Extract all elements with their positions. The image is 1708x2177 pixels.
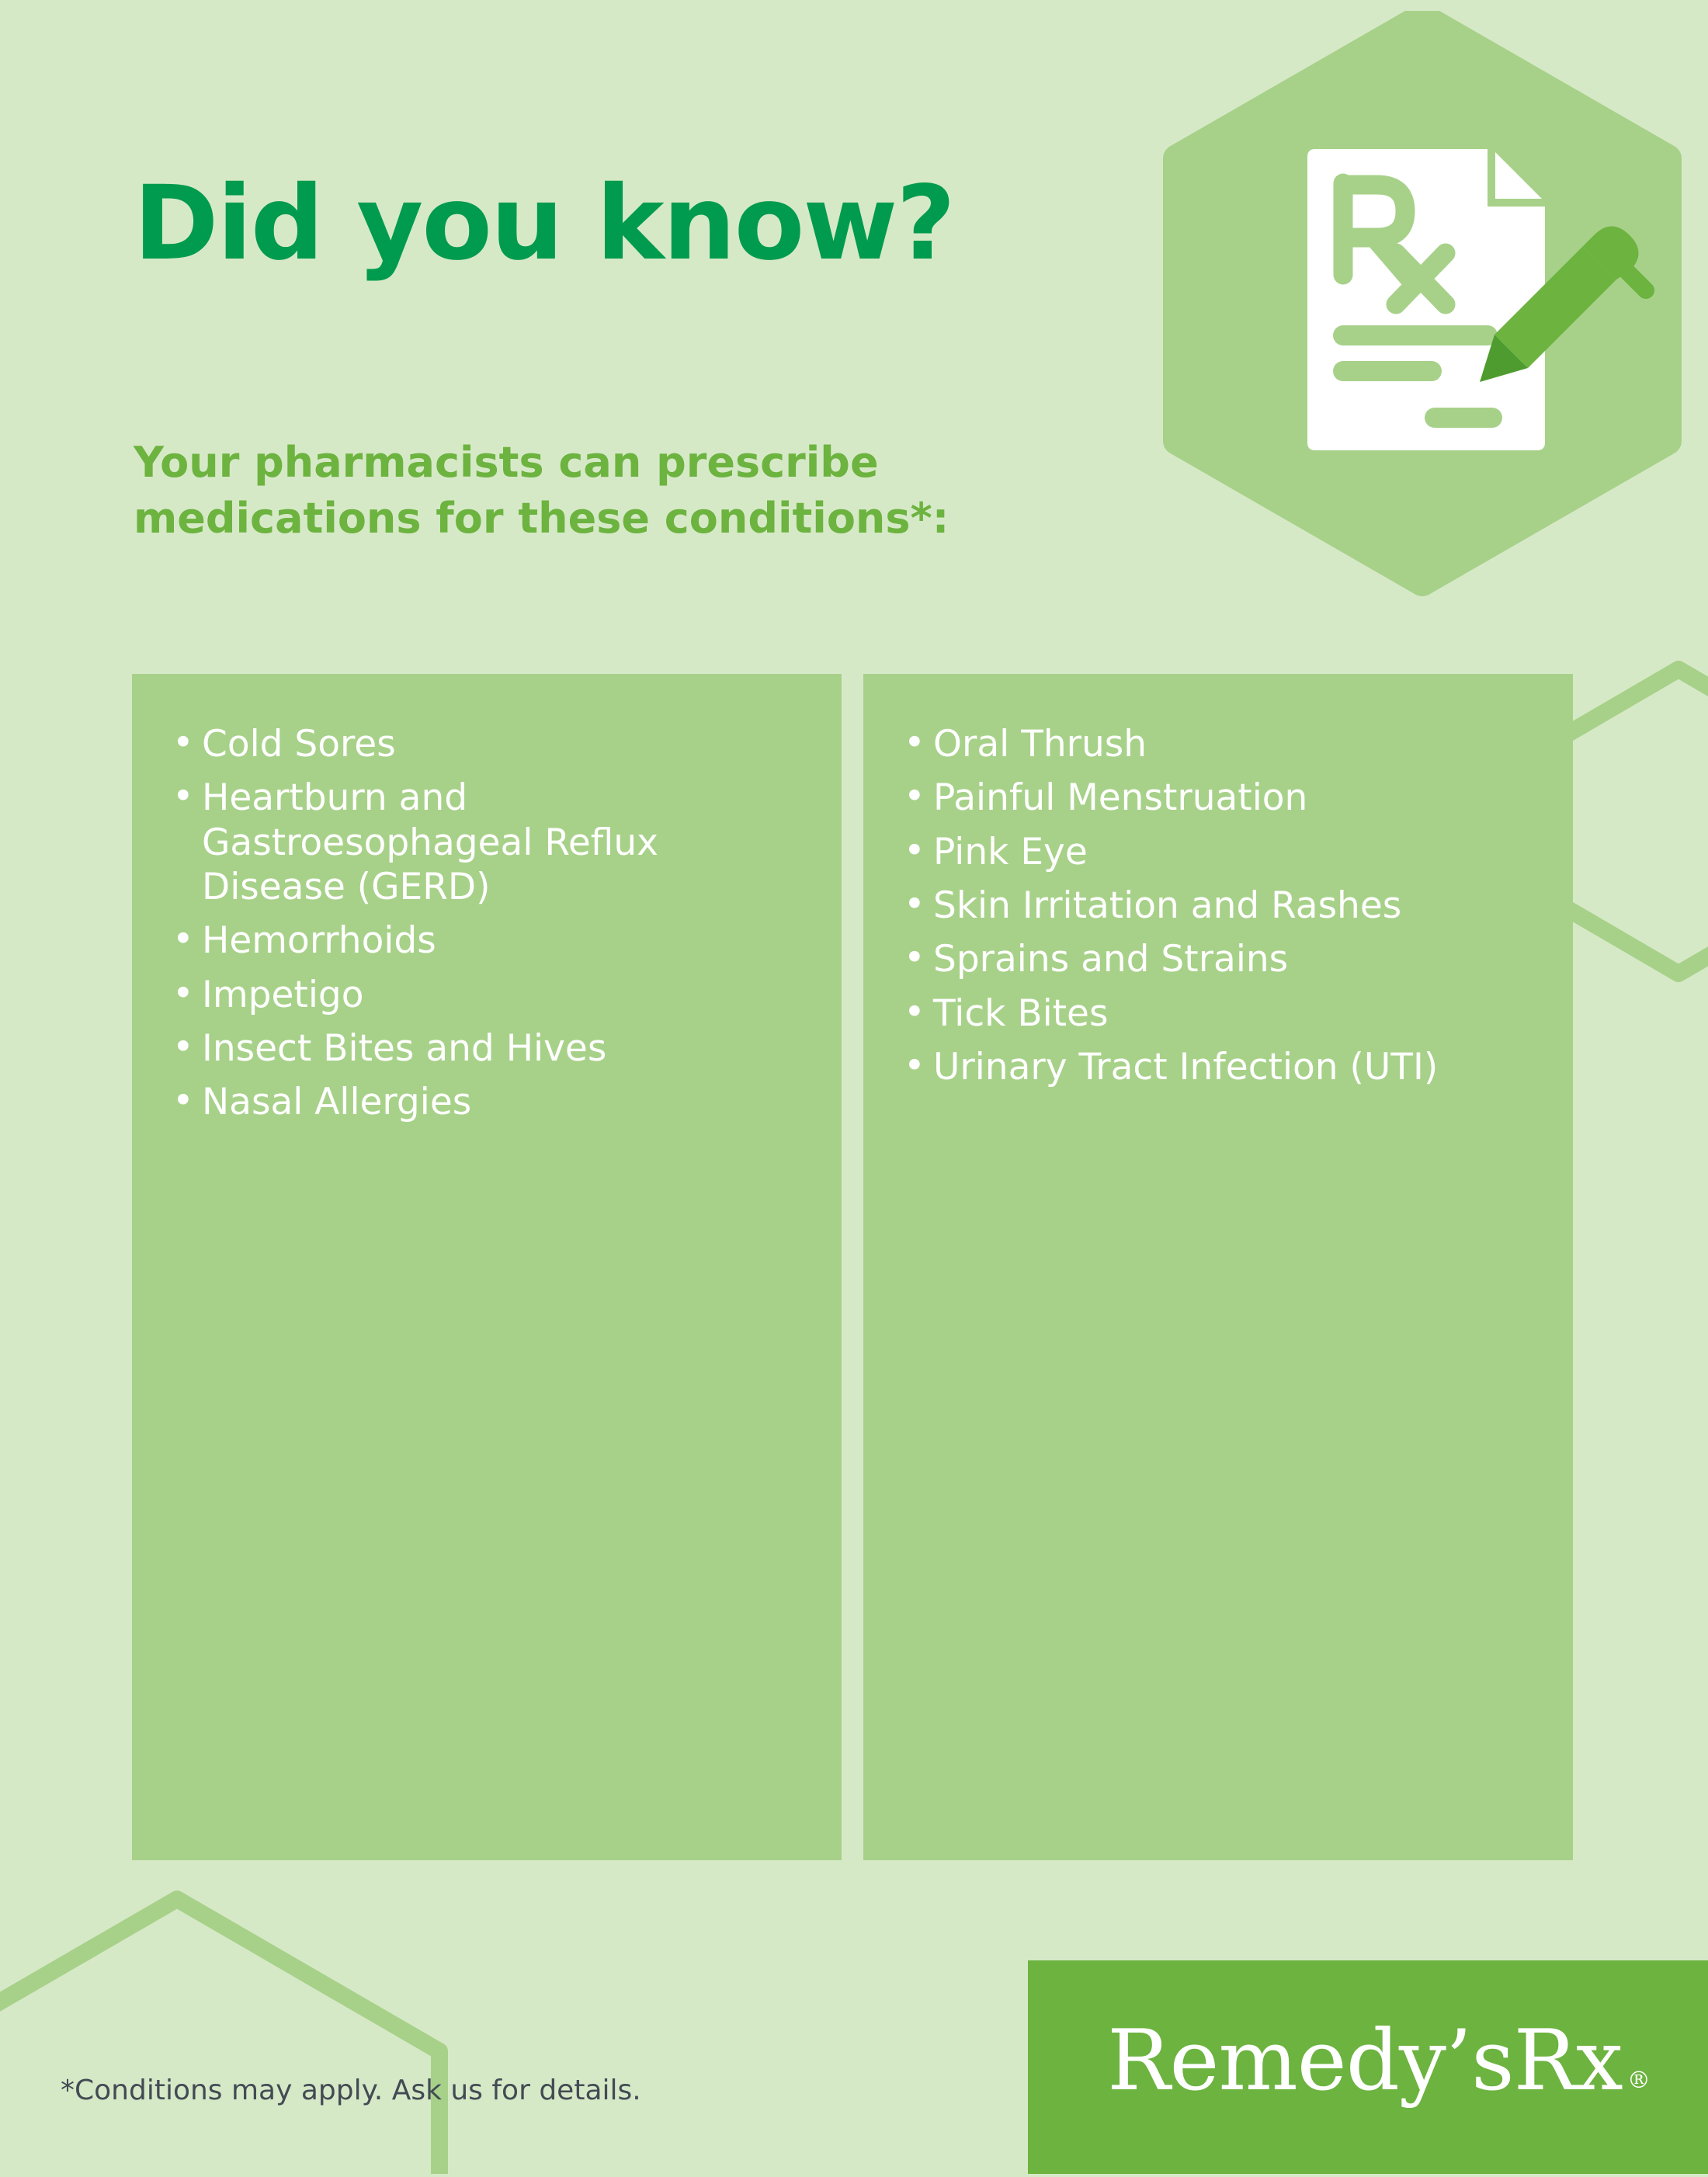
conditions-panel: Cold Sores Heartburn and Gastroesophagea… bbox=[132, 674, 1573, 1860]
conditions-list-right: Oral Thrush Painful Menstruation Pink Ey… bbox=[897, 722, 1539, 1089]
brand-logo-band: Remedy’sRx ® bbox=[1028, 1960, 1708, 2174]
list-item: Tick Bites bbox=[897, 991, 1539, 1036]
page-subtitle: Your pharmacists can prescribe medicatio… bbox=[134, 435, 1050, 547]
list-item: Nasal Allergies bbox=[166, 1080, 807, 1124]
list-item: Painful Menstruation bbox=[897, 776, 1539, 820]
conditions-list-left: Cold Sores Heartburn and Gastroesophagea… bbox=[166, 722, 807, 1125]
list-item: Urinary Tract Infection (UTI) bbox=[897, 1045, 1539, 1089]
list-item: Oral Thrush bbox=[897, 722, 1539, 766]
list-item: Pink Eye bbox=[897, 830, 1539, 874]
list-item: Sprains and Strains bbox=[897, 937, 1539, 981]
registered-trademark-icon: ® bbox=[1627, 2067, 1651, 2094]
conditions-card-left: Cold Sores Heartburn and Gastroesophagea… bbox=[132, 674, 842, 1860]
conditions-card-right: Oral Thrush Painful Menstruation Pink Ey… bbox=[863, 674, 1573, 1860]
list-item: Hemorrhoids bbox=[166, 918, 807, 963]
list-item: Impetigo bbox=[166, 973, 807, 1017]
list-item: Insect Bites and Hives bbox=[166, 1026, 807, 1071]
list-item: Cold Sores bbox=[166, 722, 807, 766]
list-item: Heartburn and Gastroesophageal Reflux Di… bbox=[166, 776, 807, 909]
logo-wrap: Remedy’sRx ® bbox=[1107, 2019, 1651, 2103]
list-item: Skin Irritation and Rashes bbox=[897, 884, 1539, 928]
brand-wordmark: Remedy’sRx bbox=[1107, 2019, 1623, 2103]
prescription-document-pencil-icon bbox=[1163, 11, 1682, 663]
footnote-text: *Conditions may apply. Ask us for detail… bbox=[61, 2075, 641, 2106]
hexagon-outline-bottom-left bbox=[0, 1899, 439, 2174]
page-title: Did you know? bbox=[134, 172, 954, 275]
